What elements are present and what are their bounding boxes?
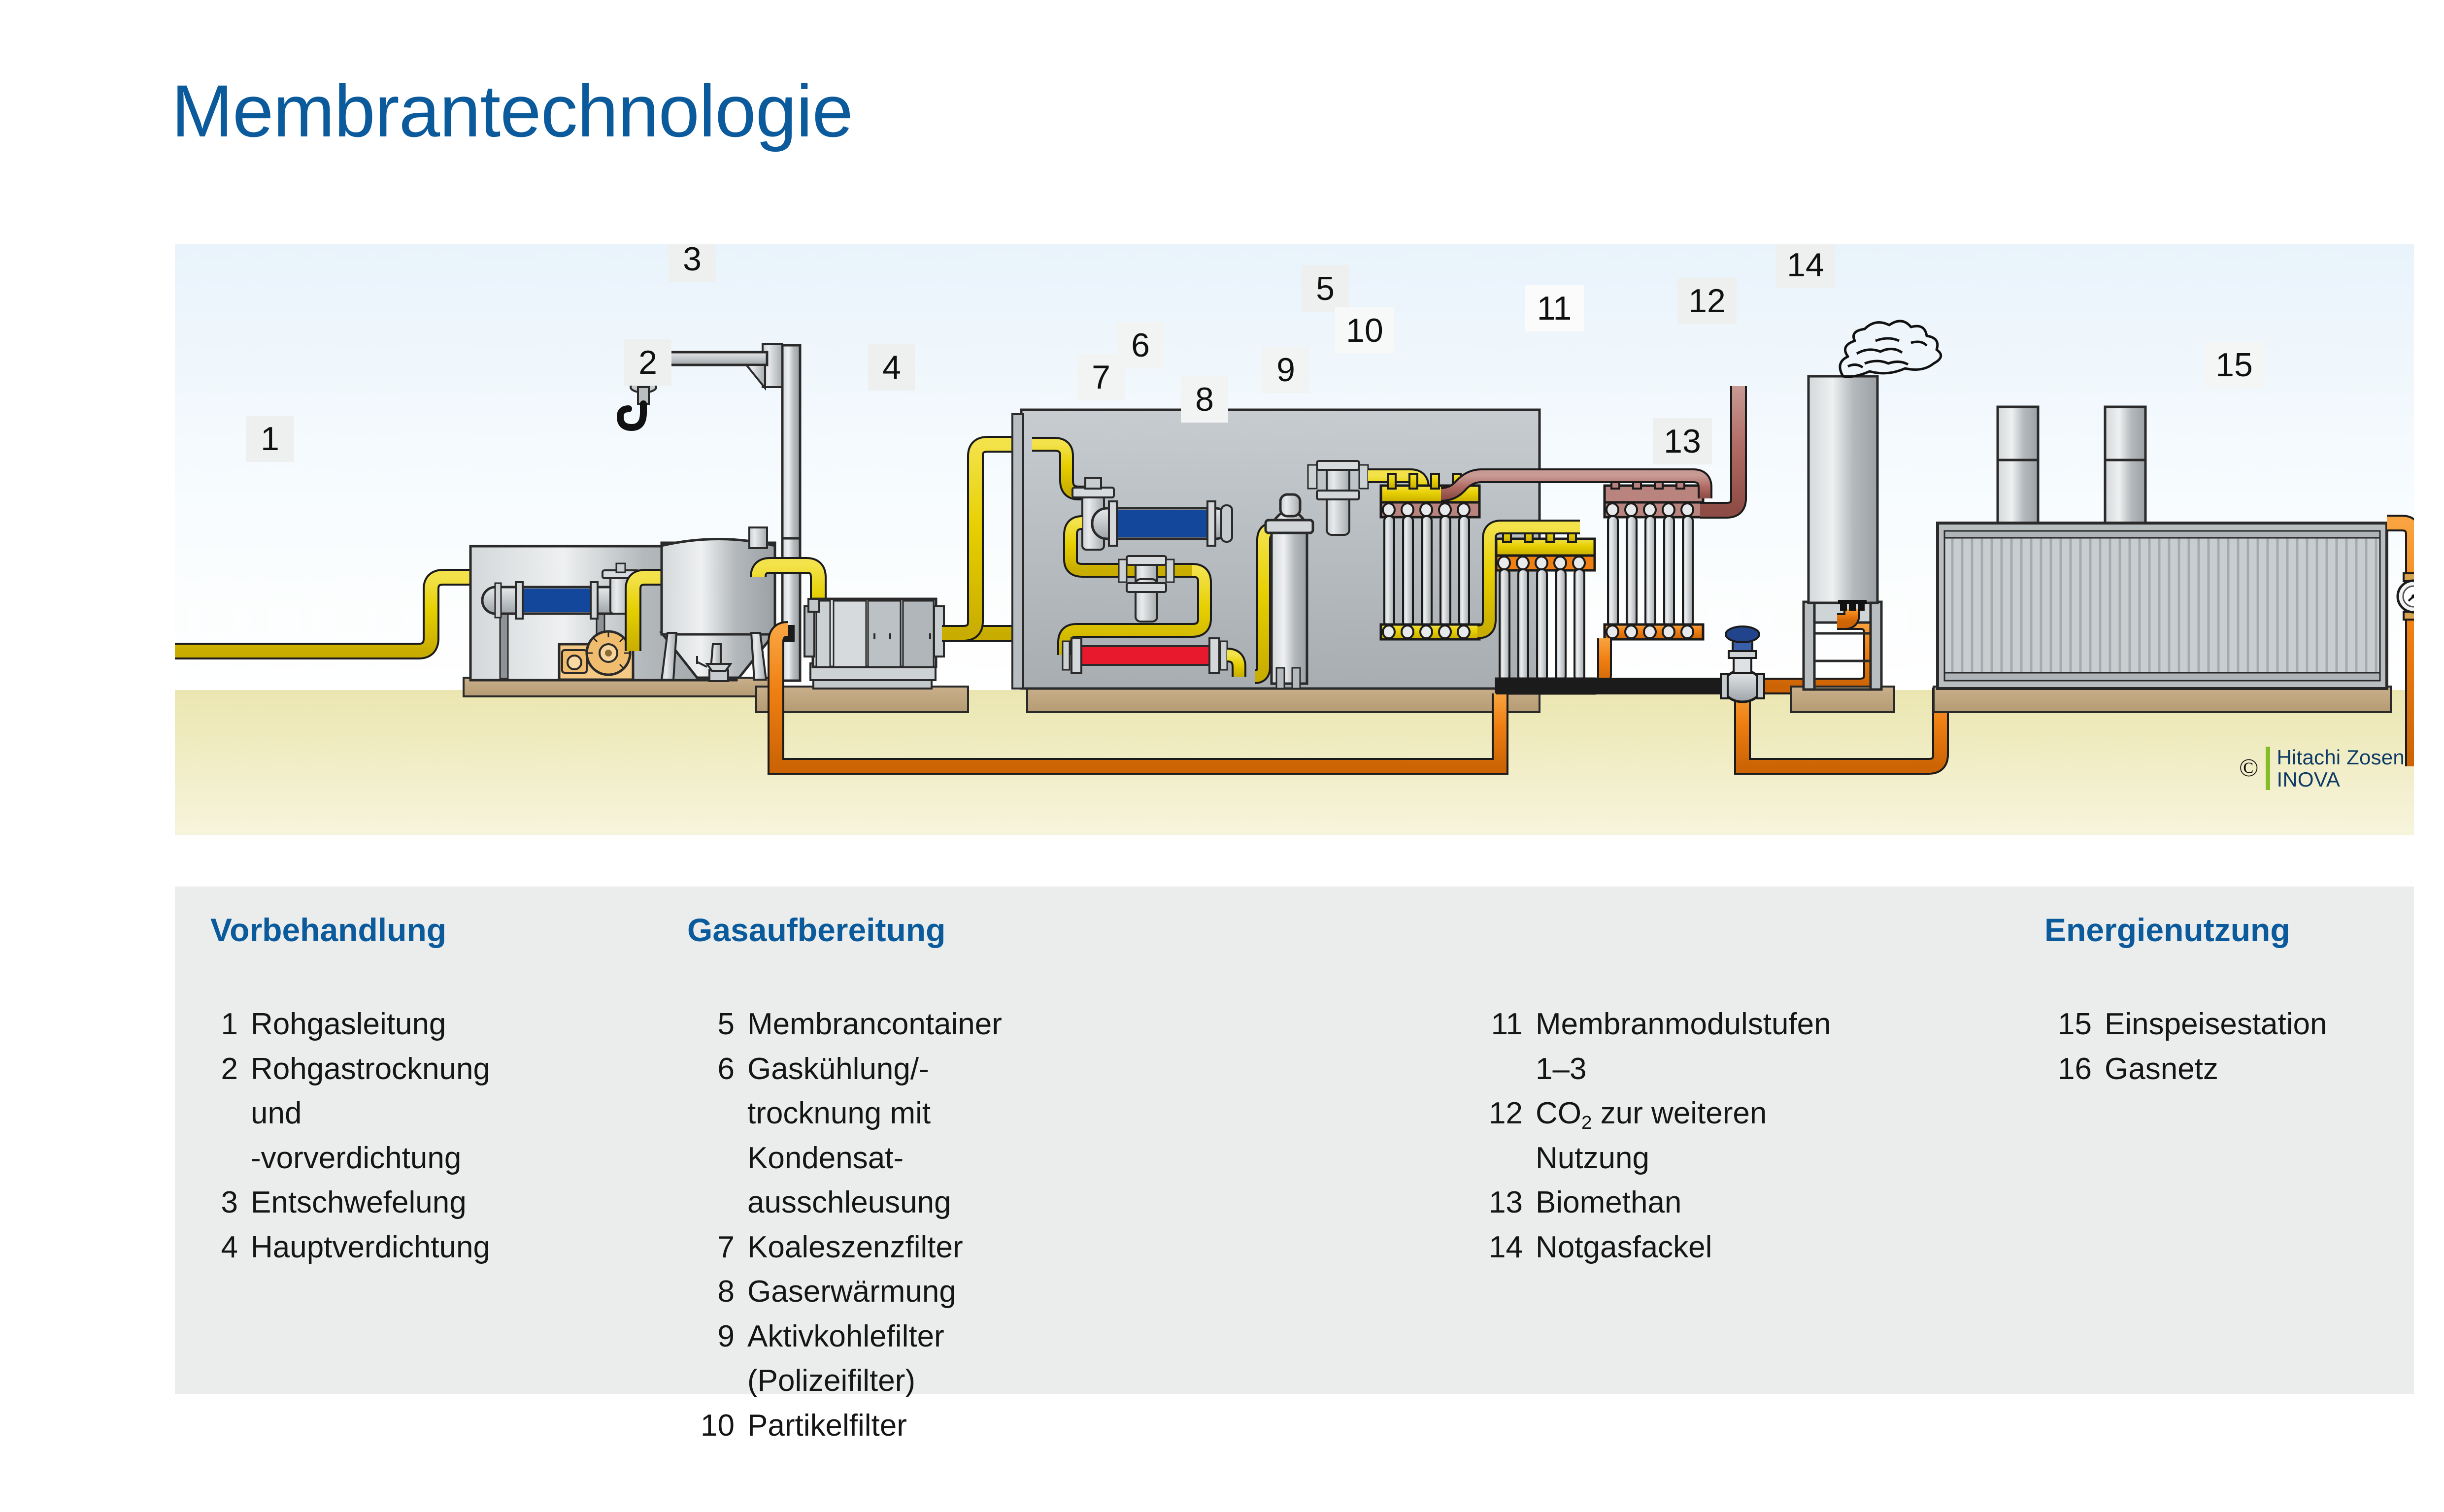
process-diagram: 1 2 3 4 5 6 7 8 9 10 11 12 13 14 15 16 xyxy=(175,244,2414,835)
legend-item-label: Koaleszenzfilter xyxy=(747,1225,1002,1270)
flare-stack xyxy=(1808,376,1877,603)
legend-item-number: 8 xyxy=(687,1270,735,1315)
logo-line-1: Hitachi Zosen xyxy=(2277,746,2405,768)
legend-panel: Vorbehandlung1Rohgasleitung2Rohgastrockn… xyxy=(175,887,2414,1394)
legend-item-label: Membrancontainer xyxy=(747,1002,1002,1047)
legend-item-number: 3 xyxy=(210,1181,238,1225)
callout-2: 2 xyxy=(624,339,671,386)
legend-item: 4Hauptverdichtung xyxy=(210,1225,490,1270)
legend-list: 11Membranmodulstufen 1–312CO2 zur weiter… xyxy=(1475,1002,1831,1270)
callout-1: 1 xyxy=(246,416,294,462)
legend-item: 14Notgasfackel xyxy=(1475,1225,1831,1270)
callout-3: 3 xyxy=(669,244,716,282)
callout-10: 10 xyxy=(1335,307,1394,354)
svg-text:11: 11 xyxy=(1537,290,1572,327)
logo-accent-bar xyxy=(2266,747,2270,790)
legend-item-number: 5 xyxy=(687,1002,735,1047)
legend-item-label: Gasnetz xyxy=(2105,1047,2327,1092)
callout-7: 7 xyxy=(1077,354,1125,400)
legend-list: 1Rohgasleitung2Rohgastrocknung und -vorv… xyxy=(210,1002,490,1270)
svg-text:7: 7 xyxy=(1092,359,1110,396)
legend-item: 16Gasnetz xyxy=(2044,1047,2327,1092)
legend-item-number: 13 xyxy=(1475,1181,1523,1225)
unit-activated-carbon-filter xyxy=(1266,494,1313,689)
legend-item-label: Aktivkohlefilter (Polizeifilter) xyxy=(747,1315,1002,1404)
callout-14: 14 xyxy=(1776,244,1835,288)
legend-item-label: Gaskühlung/-trocknung mit Kondensat- aus… xyxy=(747,1047,1002,1225)
legend-item-number: 6 xyxy=(687,1047,735,1092)
legend-heading: Gasaufbereitung xyxy=(687,914,945,946)
callout-13: 13 xyxy=(1653,418,1712,464)
legend-item: 8Gaserwärmung xyxy=(687,1270,1002,1315)
legend-list: 5Membrancontainer6Gaskühlung/-trocknung … xyxy=(687,1002,1002,1448)
legend-item-number: 12 xyxy=(1475,1091,1523,1136)
legend-item: 13Biomethan xyxy=(1475,1181,1831,1225)
legend-item-label: Rohgastrocknung und -vorverdichtung xyxy=(251,1047,490,1181)
legend-item-number: 15 xyxy=(2044,1002,2092,1047)
svg-text:6: 6 xyxy=(1131,327,1150,364)
legend-item-number: 4 xyxy=(210,1225,238,1270)
svg-text:14: 14 xyxy=(1787,246,1824,284)
legend-item-label: Entschwefelung xyxy=(251,1181,490,1225)
legend-item: 12CO2 zur weiteren Nutzung xyxy=(1475,1091,1831,1181)
heater-red-band xyxy=(1076,646,1214,665)
legend-item: 15Einspeisestation xyxy=(2044,1002,2327,1047)
svg-text:10: 10 xyxy=(1346,312,1383,349)
callout-12: 12 xyxy=(1677,278,1737,324)
legend-item: 10Partikelfilter xyxy=(687,1404,1002,1448)
legend-item-number: 1 xyxy=(210,1002,238,1047)
logo-line-2: INOVA xyxy=(2277,768,2405,790)
legend-item-number: 10 xyxy=(687,1404,735,1448)
svg-text:8: 8 xyxy=(1195,381,1214,418)
legend-item-number: 16 xyxy=(2044,1047,2092,1092)
svg-text:4: 4 xyxy=(882,349,901,386)
callout-11: 11 xyxy=(1525,285,1584,331)
legend-item: 3Entschwefelung xyxy=(210,1181,490,1225)
legend-item: 9Aktivkohlefilter (Polizeifilter) xyxy=(687,1315,1002,1404)
legend-item-number: 9 xyxy=(687,1315,735,1359)
legend-item: 1Rohgasleitung xyxy=(210,1002,490,1047)
legend-item: 7Koaleszenzfilter xyxy=(687,1225,1002,1270)
svg-text:13: 13 xyxy=(1664,423,1701,460)
legend-item-number: 7 xyxy=(687,1225,735,1270)
callout-5: 5 xyxy=(1302,265,1349,312)
legend-item-label: Partikelfilter xyxy=(747,1404,1002,1448)
legend-item-label: Membranmodulstufen 1–3 xyxy=(1536,1002,1831,1091)
legend-heading: Vorbehandlung xyxy=(210,914,446,946)
legend-item: 5Membrancontainer xyxy=(687,1002,1002,1047)
callout-4: 4 xyxy=(868,344,915,391)
copyright-icon: © xyxy=(2239,756,2259,781)
svg-text:15: 15 xyxy=(2215,346,2253,384)
legend-item-label: Hauptverdichtung xyxy=(251,1225,490,1270)
legend-item: 6Gaskühlung/-trocknung mit Kondensat- au… xyxy=(687,1047,1002,1225)
process-flow-svg: 1 2 3 4 5 6 7 8 9 10 11 12 13 14 15 16 xyxy=(175,244,2414,835)
legend-item-label: CO2 zur weiteren Nutzung xyxy=(1536,1091,1831,1181)
callout-9: 9 xyxy=(1262,347,1309,393)
legend-heading: Energienutzung xyxy=(2044,914,2290,946)
legend-list: 15Einspeisestation16Gasnetz xyxy=(2044,1002,2327,1091)
legend-item-number: 11 xyxy=(1475,1002,1523,1047)
legend-item-number: 14 xyxy=(1475,1225,1523,1270)
copyright-logo: © Hitachi Zosen INOVA xyxy=(2239,741,2405,795)
svg-text:3: 3 xyxy=(683,244,702,278)
legend-item: 2Rohgastrocknung und -vorverdichtung xyxy=(210,1047,490,1181)
legend-item-number: 2 xyxy=(210,1047,238,1092)
callout-8: 8 xyxy=(1181,376,1228,423)
legend-item-label: Gaserwärmung xyxy=(747,1270,1002,1315)
svg-text:1: 1 xyxy=(261,420,279,458)
callout-15: 15 xyxy=(2205,342,2264,388)
legend-item-label: Rohgasleitung xyxy=(251,1002,490,1047)
svg-text:9: 9 xyxy=(1276,351,1295,389)
legend-item-label: Notgasfackel xyxy=(1536,1225,1831,1270)
cooler-blue-band xyxy=(1113,510,1211,537)
svg-text:12: 12 xyxy=(1688,282,1726,320)
heat-exchanger-blue-band xyxy=(520,589,594,612)
svg-text:2: 2 xyxy=(638,344,657,381)
legend-item: 11Membranmodulstufen 1–3 xyxy=(1475,1002,1831,1091)
legend-item-label: Biomethan xyxy=(1536,1181,1831,1225)
legend-item-label: Einspeisestation xyxy=(2105,1002,2327,1047)
svg-text:5: 5 xyxy=(1316,270,1335,307)
page-title: Membrantechnologie xyxy=(171,74,853,148)
